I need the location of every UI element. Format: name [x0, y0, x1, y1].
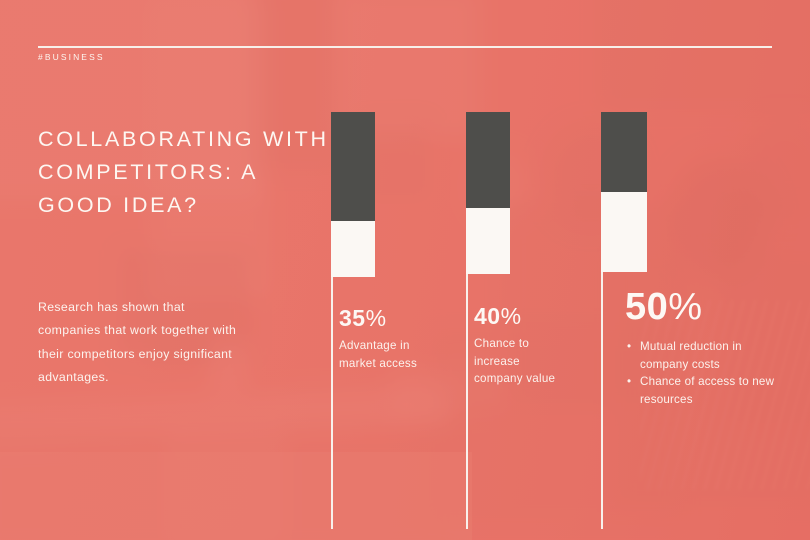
- stat-percent-value: 40: [474, 303, 501, 329]
- leader-line: [466, 274, 468, 529]
- gauge-bar-1: [331, 112, 375, 277]
- header-divider: [38, 46, 772, 48]
- gauge-remainder: [331, 112, 375, 221]
- gauge-remainder: [466, 112, 510, 208]
- stat-percent-value: 50: [625, 286, 668, 328]
- gauge-fill: [466, 208, 510, 274]
- leader-line: [601, 272, 603, 529]
- gauge-fill: [331, 221, 375, 277]
- infographic-canvas: #BUSINESS COLLABORATING WITH COMPETITORS…: [0, 0, 810, 540]
- stat-caption-1: Advantage in market access: [339, 337, 434, 372]
- kicker-label: #BUSINESS: [38, 52, 105, 62]
- list-item: Mutual reduction in company costs: [625, 338, 785, 373]
- leader-line: [331, 277, 333, 529]
- page-title: COLLABORATING WITH COMPETITORS: A GOOD I…: [38, 123, 338, 222]
- gauge-bar-3: [601, 112, 647, 272]
- list-item: Chance of access to new resources: [625, 373, 785, 408]
- content-layer: #BUSINESS COLLABORATING WITH COMPETITORS…: [0, 0, 810, 540]
- stat-bullet-list-3: Mutual reduction in company costs Chance…: [625, 338, 785, 408]
- stat-percent-2: 40%: [474, 305, 522, 328]
- percent-sign: %: [366, 305, 387, 331]
- gauge-fill: [601, 192, 647, 272]
- stat-percent-1: 35%: [339, 307, 387, 330]
- percent-sign: %: [668, 286, 702, 328]
- gauge-bar-2: [466, 112, 510, 274]
- stat-percent-3: 50%: [625, 288, 703, 326]
- gauge-remainder: [601, 112, 647, 192]
- percent-sign: %: [501, 303, 522, 329]
- stat-percent-value: 35: [339, 305, 366, 331]
- body-paragraph: Research has shown that companies that w…: [38, 296, 243, 390]
- stat-caption-2: Chance to increase company value: [474, 335, 569, 388]
